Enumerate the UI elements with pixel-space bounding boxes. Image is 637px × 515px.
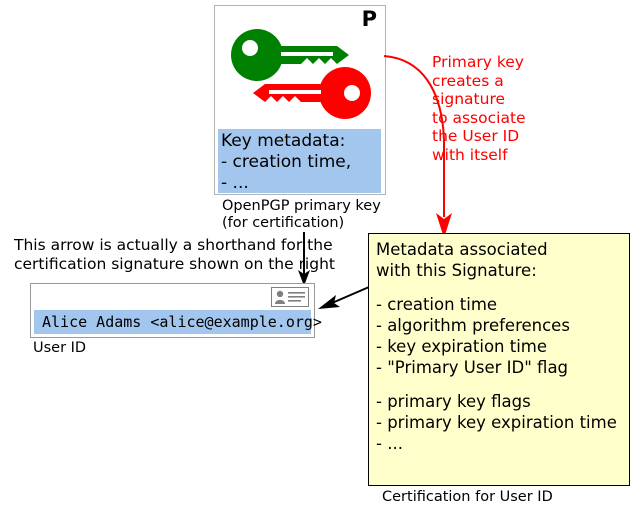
- key-metadata-block: Key metadata: - creation time, - ...: [218, 129, 381, 193]
- certification-item-6: - primary key expiration time: [376, 412, 629, 433]
- user-id-value: Alice Adams <alice@example.org>: [34, 310, 311, 334]
- shorthand-note-line-1: This arrow is actually a shorthand for t…: [14, 236, 314, 255]
- certification-box: Metadata associated with this Signature:…: [368, 233, 630, 486]
- key-metadata-line-2: - creation time,: [221, 152, 381, 173]
- red-note-line-2: creates a: [432, 72, 562, 91]
- certification-heading-line-2: with this Signature:: [376, 260, 629, 281]
- certification-item-3: - key expiration time: [376, 336, 629, 357]
- certification-item-2: - algorithm preferences: [376, 315, 629, 336]
- certification-spacer-1: [376, 281, 629, 294]
- red-note-line-6: with itself: [432, 146, 562, 165]
- openpgp-primary-key-box: P Key metadata: - creation time, - ...: [214, 5, 386, 195]
- key-metadata-line-1: Key metadata:: [221, 131, 381, 152]
- certification-spacer-2: [376, 378, 629, 391]
- certification-item-5: - primary key flags: [376, 391, 629, 412]
- key-pair-graphic: [227, 24, 377, 124]
- certification-item-7: - ...: [376, 433, 629, 454]
- shorthand-note-line-2: certification signature shown on the rig…: [14, 255, 314, 274]
- shorthand-note: This arrow is actually a shorthand for t…: [14, 236, 314, 274]
- certification-item-1: - creation time: [376, 294, 629, 315]
- key-metadata-line-3: - ...: [221, 173, 381, 194]
- red-annotation-note: Primary key creates a signature to assoc…: [432, 53, 562, 164]
- contact-card-icon: [271, 287, 309, 307]
- red-note-line-4: to associate: [432, 109, 562, 128]
- certification-caption: Certification for User ID: [382, 489, 553, 506]
- red-note-line-1: Primary key: [432, 53, 562, 72]
- red-note-line-5: the User ID: [432, 127, 562, 146]
- red-note-line-3: signature: [432, 90, 562, 109]
- user-id-caption: User ID: [33, 340, 86, 357]
- user-id-box: Alice Adams <alice@example.org>: [30, 283, 315, 338]
- certification-item-4: - "Primary User ID" flag: [376, 357, 629, 378]
- certification-heading-line-1: Metadata associated: [376, 239, 629, 260]
